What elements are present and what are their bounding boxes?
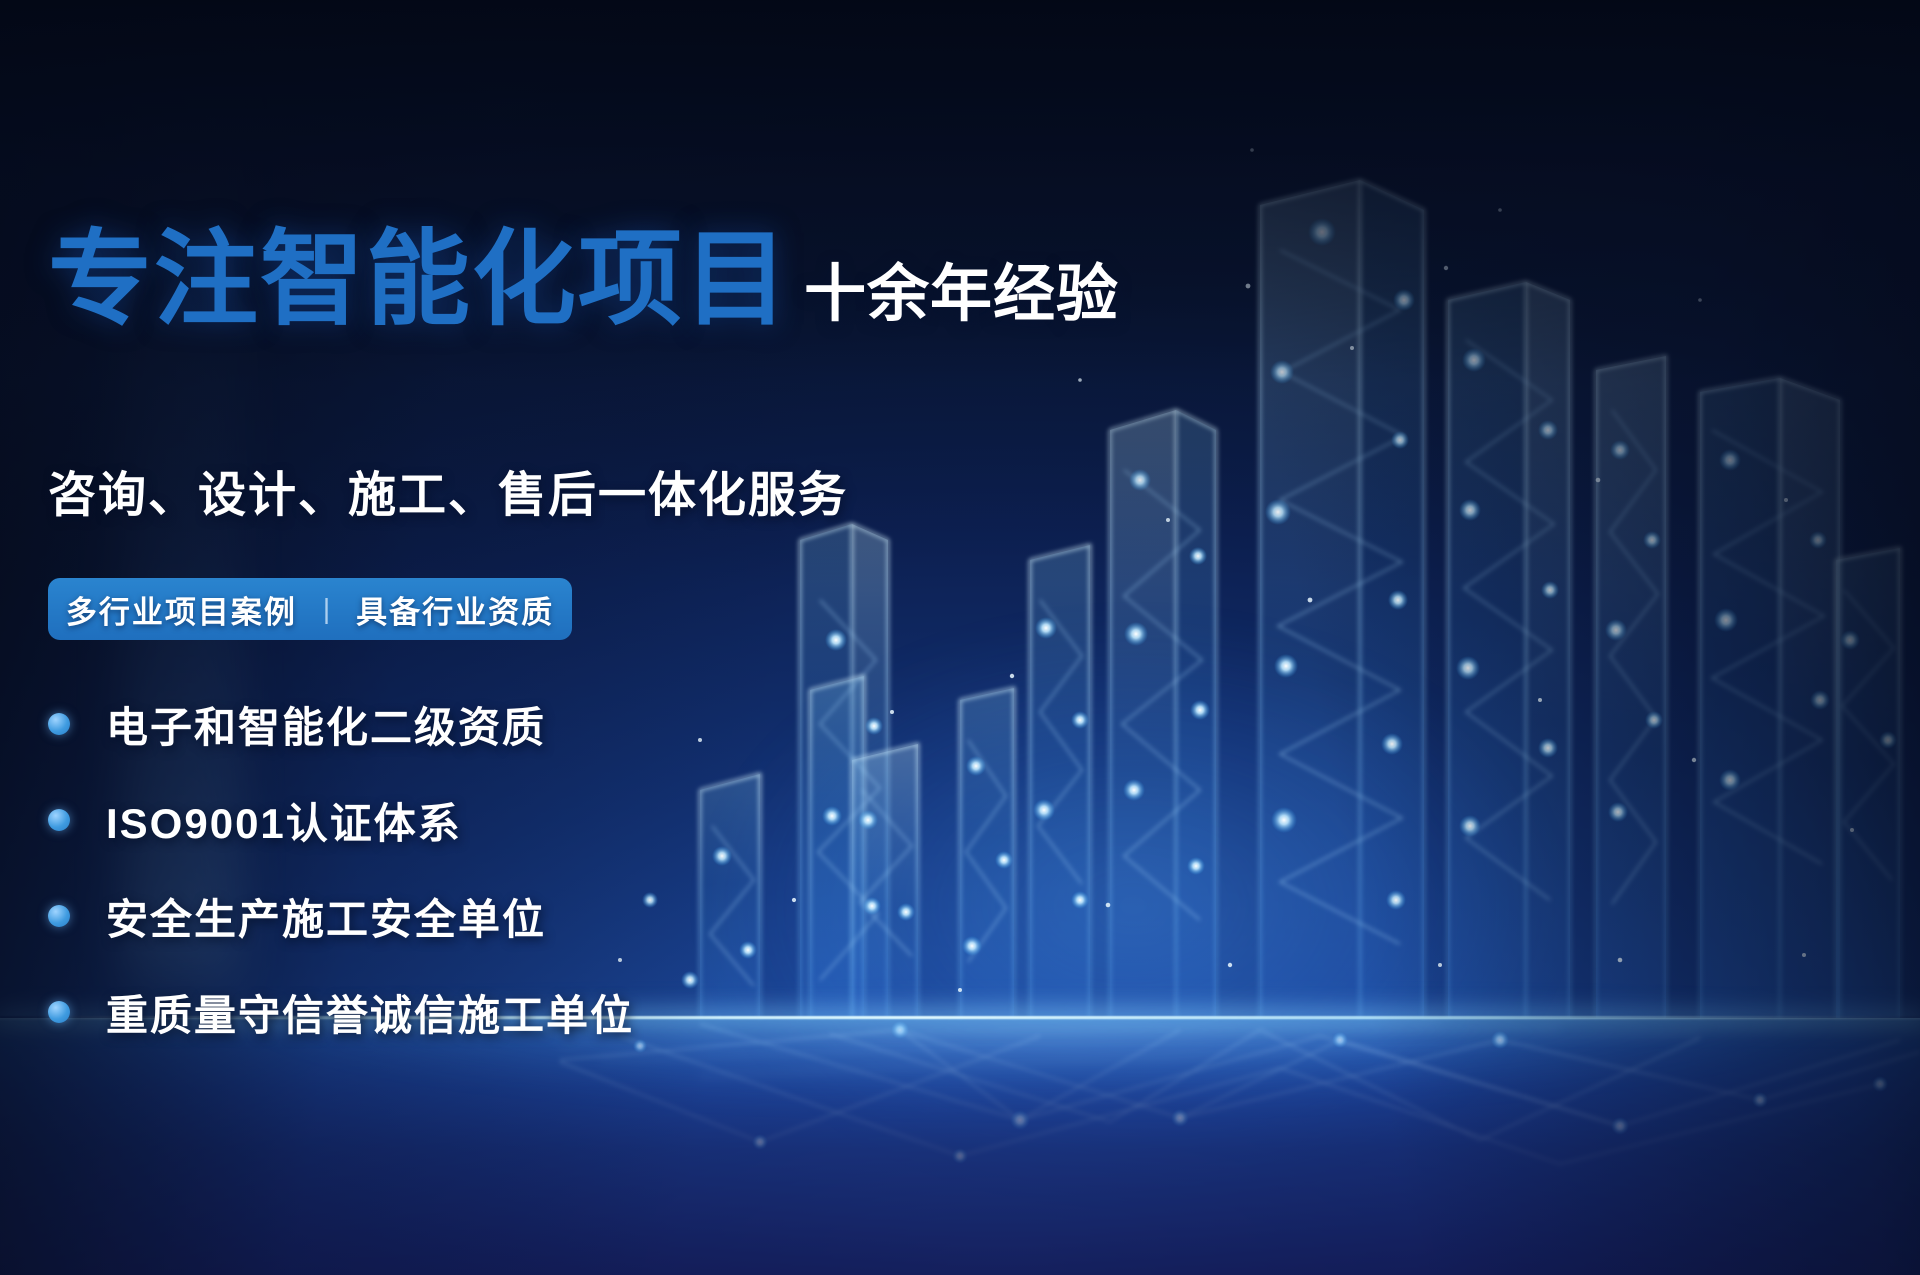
pill-label-right: 具备行业资质	[356, 587, 554, 632]
list-item: 重质量守信誉诚信施工单位	[48, 978, 634, 1046]
highlight-pill: 多行业项目案例 | 具备行业资质	[48, 578, 572, 640]
bullet-dot-icon	[48, 905, 70, 927]
banner-content: 专注智能化项目十余年经验 咨询、设计、施工、售后一体化服务 多行业项目案例 | …	[0, 0, 820, 1275]
list-item-label: 安全生产施工安全单位	[106, 886, 546, 947]
subtitle: 咨询、设计、施工、售后一体化服务	[48, 455, 848, 525]
banner-hero: 专注智能化项目十余年经验 咨询、设计、施工、售后一体化服务 多行业项目案例 | …	[0, 0, 1920, 1275]
bullet-dot-icon	[48, 713, 70, 735]
pill-label-left: 多行业项目案例	[66, 587, 297, 632]
list-item: 电子和智能化二级资质	[48, 690, 634, 758]
headline-sub: 十余年经验	[804, 260, 1119, 329]
pill-separator: |	[323, 593, 330, 625]
qualification-list: 电子和智能化二级资质 ISO9001认证体系 安全生产施工安全单位 重质量守信誉…	[48, 690, 634, 1074]
page-title: 专注智能化项目十余年经验	[48, 228, 1119, 332]
headline-main: 专注智能化项目	[48, 222, 790, 338]
list-item-label: ISO9001认证体系	[106, 790, 462, 851]
list-item: ISO9001认证体系	[48, 786, 634, 854]
bullet-dot-icon	[48, 1001, 70, 1023]
bullet-dot-icon	[48, 809, 70, 831]
list-item: 安全生产施工安全单位	[48, 882, 634, 950]
list-item-label: 电子和智能化二级资质	[106, 694, 546, 755]
list-item-label: 重质量守信誉诚信施工单位	[106, 982, 634, 1043]
